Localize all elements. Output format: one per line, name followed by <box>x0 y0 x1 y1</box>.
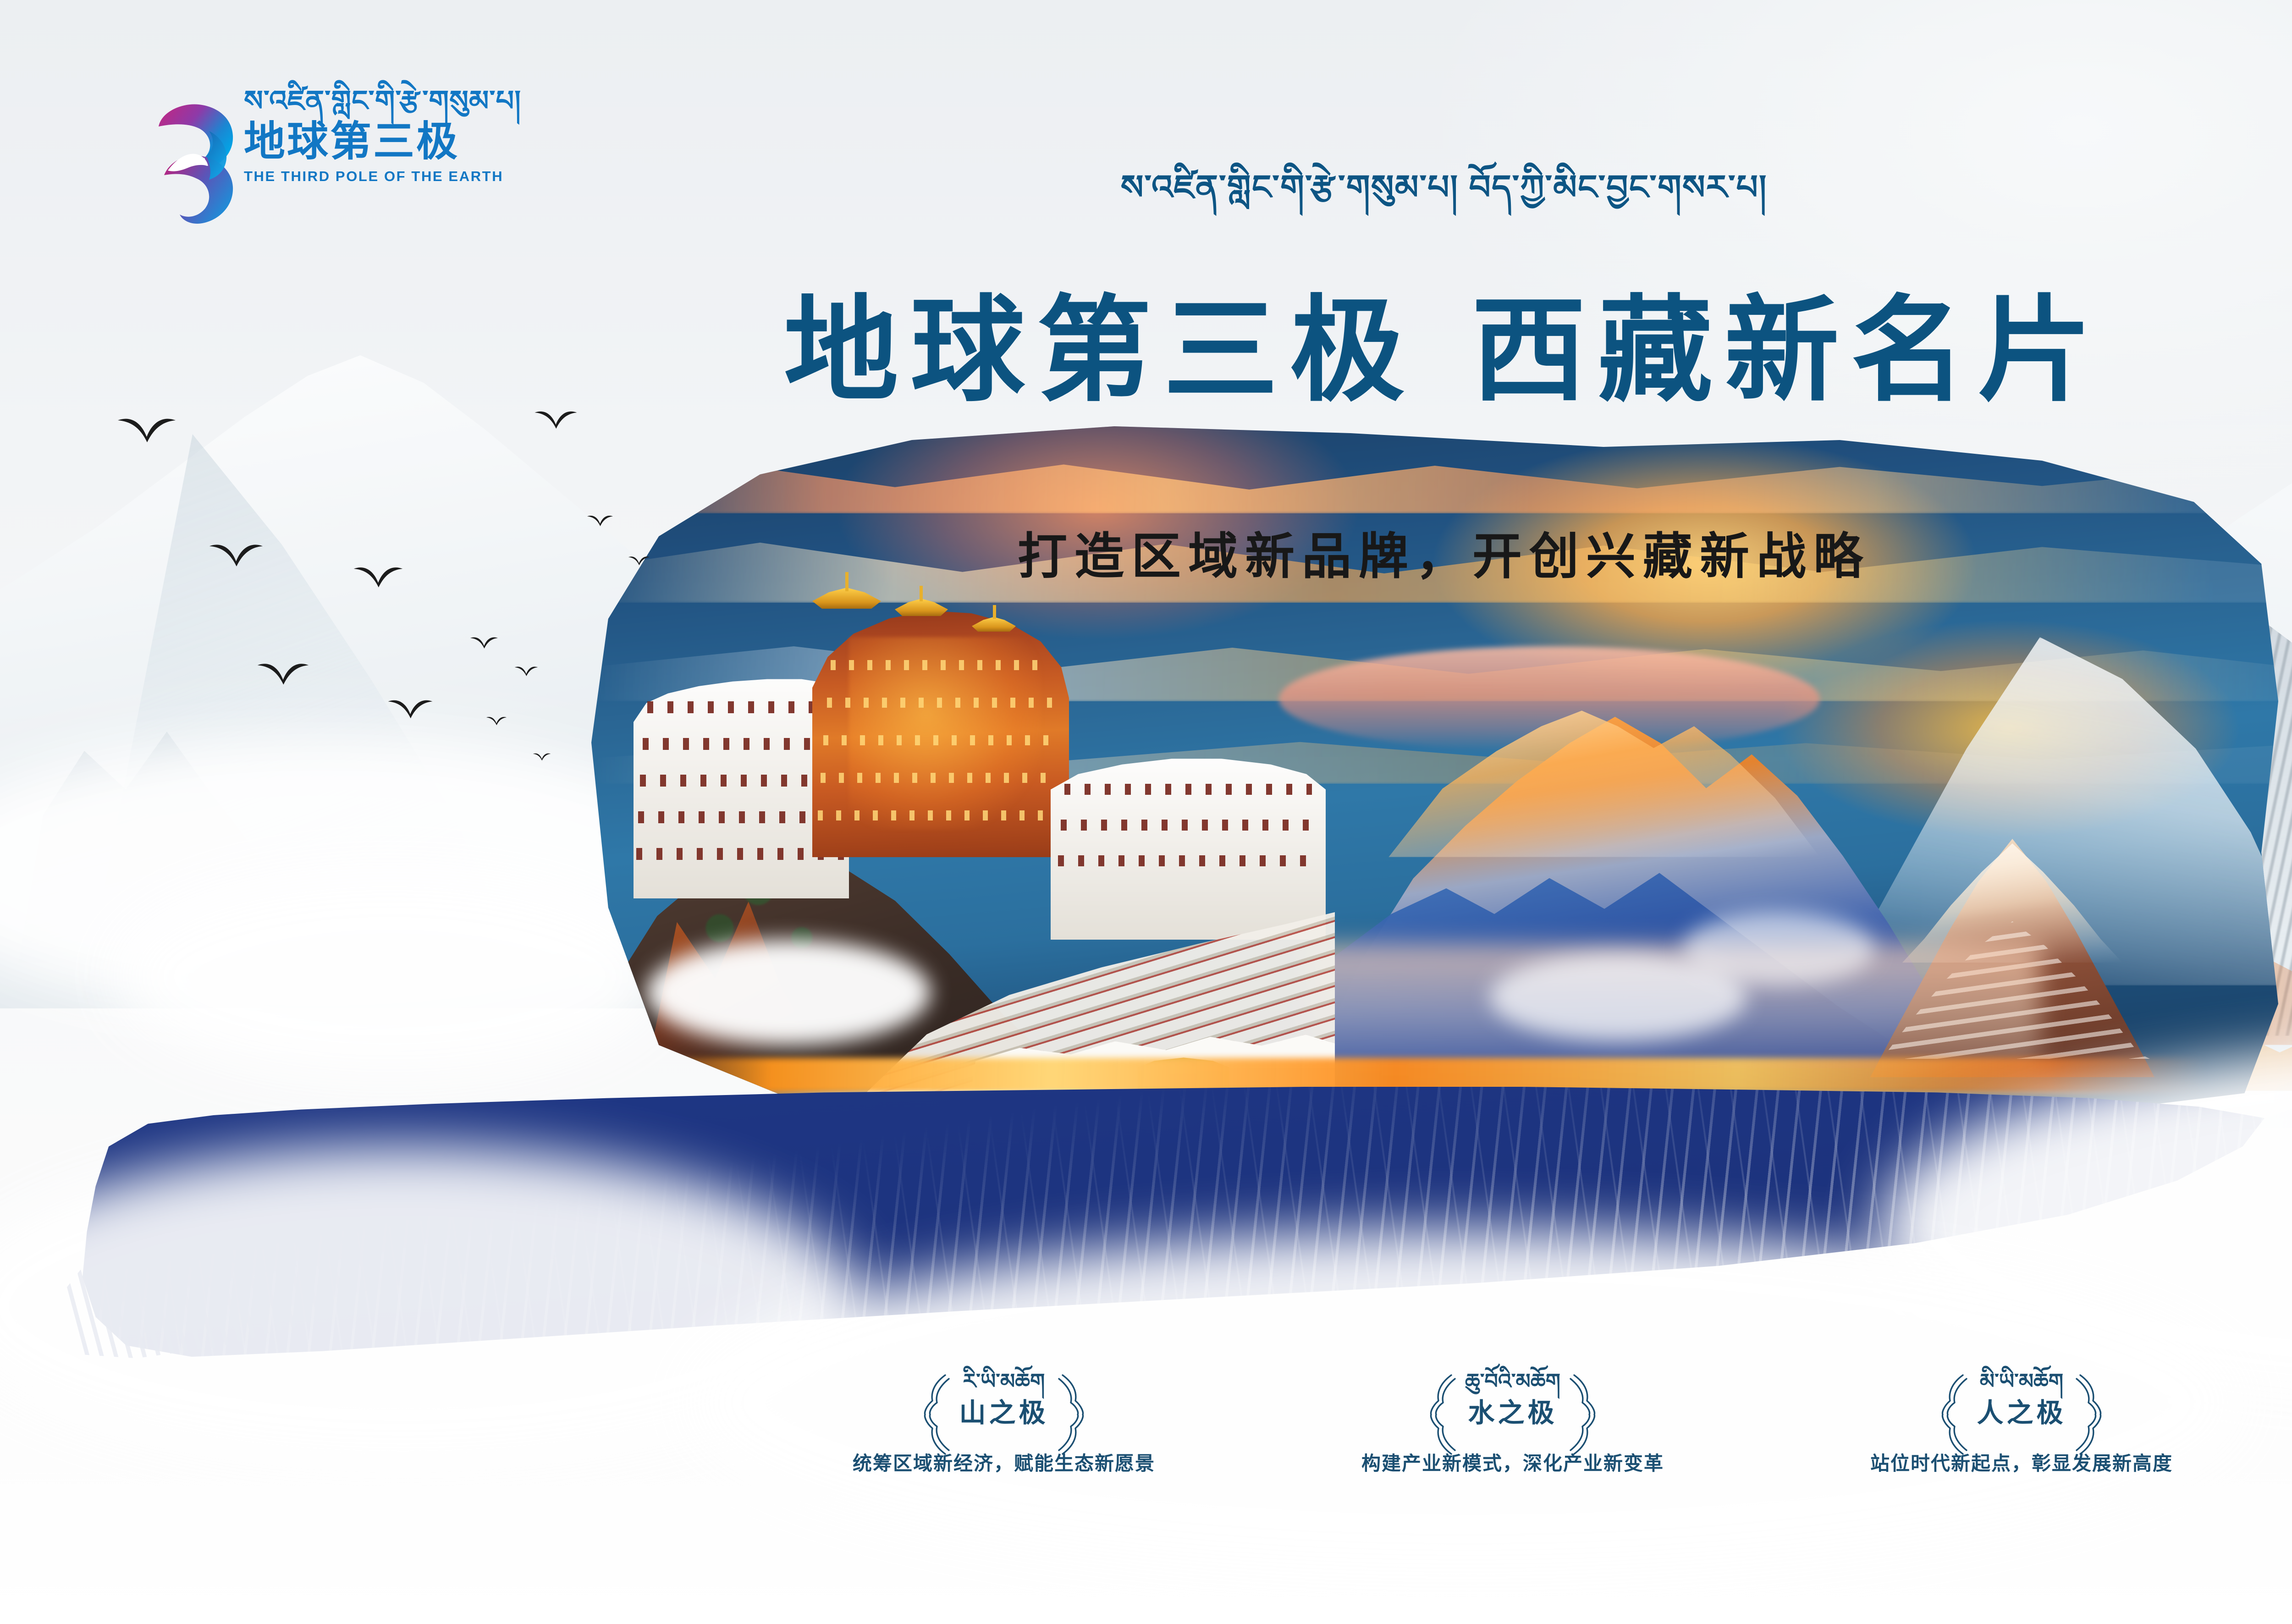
logo-tibetan-text: ས་འཛིན་གླིང་གི་རྩེ་གསུམ་པ། <box>244 87 537 116</box>
bird-icon <box>514 665 538 677</box>
feature-description: 构建产业新模式，深化产业新变革 <box>1288 1454 1737 1473</box>
feature-tibetan-label: མི་ཡི་མཆོག <box>1977 1371 2066 1392</box>
foreground-cloud-1 <box>646 940 931 1045</box>
left-mountain-rock-detail <box>18 642 431 963</box>
ribbon-snow-peak-logo-icon <box>138 92 243 225</box>
roof-spire-2 <box>920 586 923 601</box>
brand-logo[interactable]: ས་འཛིན་གླིང་གི་རྩེ་གསུམ་པ། 地球第三极 THE THI… <box>138 87 541 229</box>
palace-white-wing-right <box>1051 747 1326 940</box>
feature-headline: རི་ཡི་མཆོག 山之极 <box>917 1371 1091 1426</box>
subtitle: 打造区域新品牌，开创兴藏新战略 <box>0 532 2292 581</box>
feature-description: 站位时代新起点，彰显发展新高度 <box>1797 1454 2246 1473</box>
feature-chinese-label: 山之极 <box>959 1400 1048 1426</box>
bird-icon <box>534 408 578 430</box>
logo-wordmark: ས་འཛིན་གླིང་གི་རྩེ་གསུམ་པ། 地球第三极 THE THI… <box>244 87 537 183</box>
feature-tibetan-label: ཆུ་བོའི་མཆོག <box>1465 1371 1560 1392</box>
bird-icon <box>387 697 433 720</box>
ornamental-bracket-right-icon <box>2076 1373 2109 1456</box>
feature-chinese-label: 水之极 <box>1465 1400 1560 1426</box>
feature-tibetan-label: རི་ཡི་མཆོག <box>959 1371 1048 1392</box>
title-part-2: 西藏新名片 <box>1471 286 2104 414</box>
bird-icon <box>257 660 309 686</box>
feature-water[interactable]: ཆུ་བོའི་མཆོག 水之极 构建产业新模式，深化产业新变革 <box>1288 1371 1737 1563</box>
tibetan-headline: ས་འཛིན་གླིང་གི་རྩེ་གསུམ་པ། བོད་ཀྱི་མིང་བ… <box>0 171 2292 204</box>
ornamental-bracket-left-icon <box>1934 1373 1967 1456</box>
ornamental-bracket-right-icon <box>1570 1373 1603 1456</box>
feature-headline: མི་ཡི་མཆོག 人之极 <box>1934 1371 2108 1426</box>
left-mountain-shadow <box>0 385 633 999</box>
page-title: 地球第三极西藏新名片 <box>0 293 2292 408</box>
bird-icon <box>470 635 498 650</box>
watercolor-splash-blue <box>2274 1040 2292 1146</box>
feature-chinese-label: 人之极 <box>1977 1400 2066 1426</box>
feature-list: རི་ཡི་མཆོག 山之极 统筹区域新经济，赋能生态新愿景 <box>779 1371 2246 1563</box>
bird-icon <box>486 715 507 726</box>
feature-people[interactable]: མི་ཡི་མཆོག 人之极 站位时代新起点，彰显发展新高度 <box>1797 1371 2246 1563</box>
title-part-1: 地球第三极 <box>784 286 1416 414</box>
ornamental-bracket-left-icon <box>917 1373 950 1456</box>
ornamental-bracket-left-icon <box>1423 1373 1456 1456</box>
feature-mountain[interactable]: རི་ཡི་མཆོག 山之极 统筹区域新经济，赋能生态新愿景 <box>779 1371 1229 1563</box>
roof-spire-3 <box>993 605 996 619</box>
ornamental-bracket-right-icon <box>1058 1373 1091 1456</box>
feature-description: 统筹区域新经济，赋能生态新愿景 <box>779 1454 1229 1473</box>
brushstroke-dry-texture <box>83 1073 2264 1357</box>
foreground-cloud-3 <box>1682 912 1875 985</box>
poster-canvas: ས་འཛིན་གླིང་གི་རྩེ་གསུམ་པ། 地球第三极 THE THI… <box>0 0 2292 1624</box>
bird-icon <box>587 513 613 527</box>
bird-icon <box>117 415 176 443</box>
red-palace-glow <box>849 637 1041 830</box>
logo-chinese-text: 地球第三极 <box>244 120 537 164</box>
cloud-puff-left <box>115 871 665 1082</box>
feature-headline: ཆུ་བོའི་མཆོག 水之极 <box>1423 1371 1603 1426</box>
bird-icon <box>533 752 551 761</box>
